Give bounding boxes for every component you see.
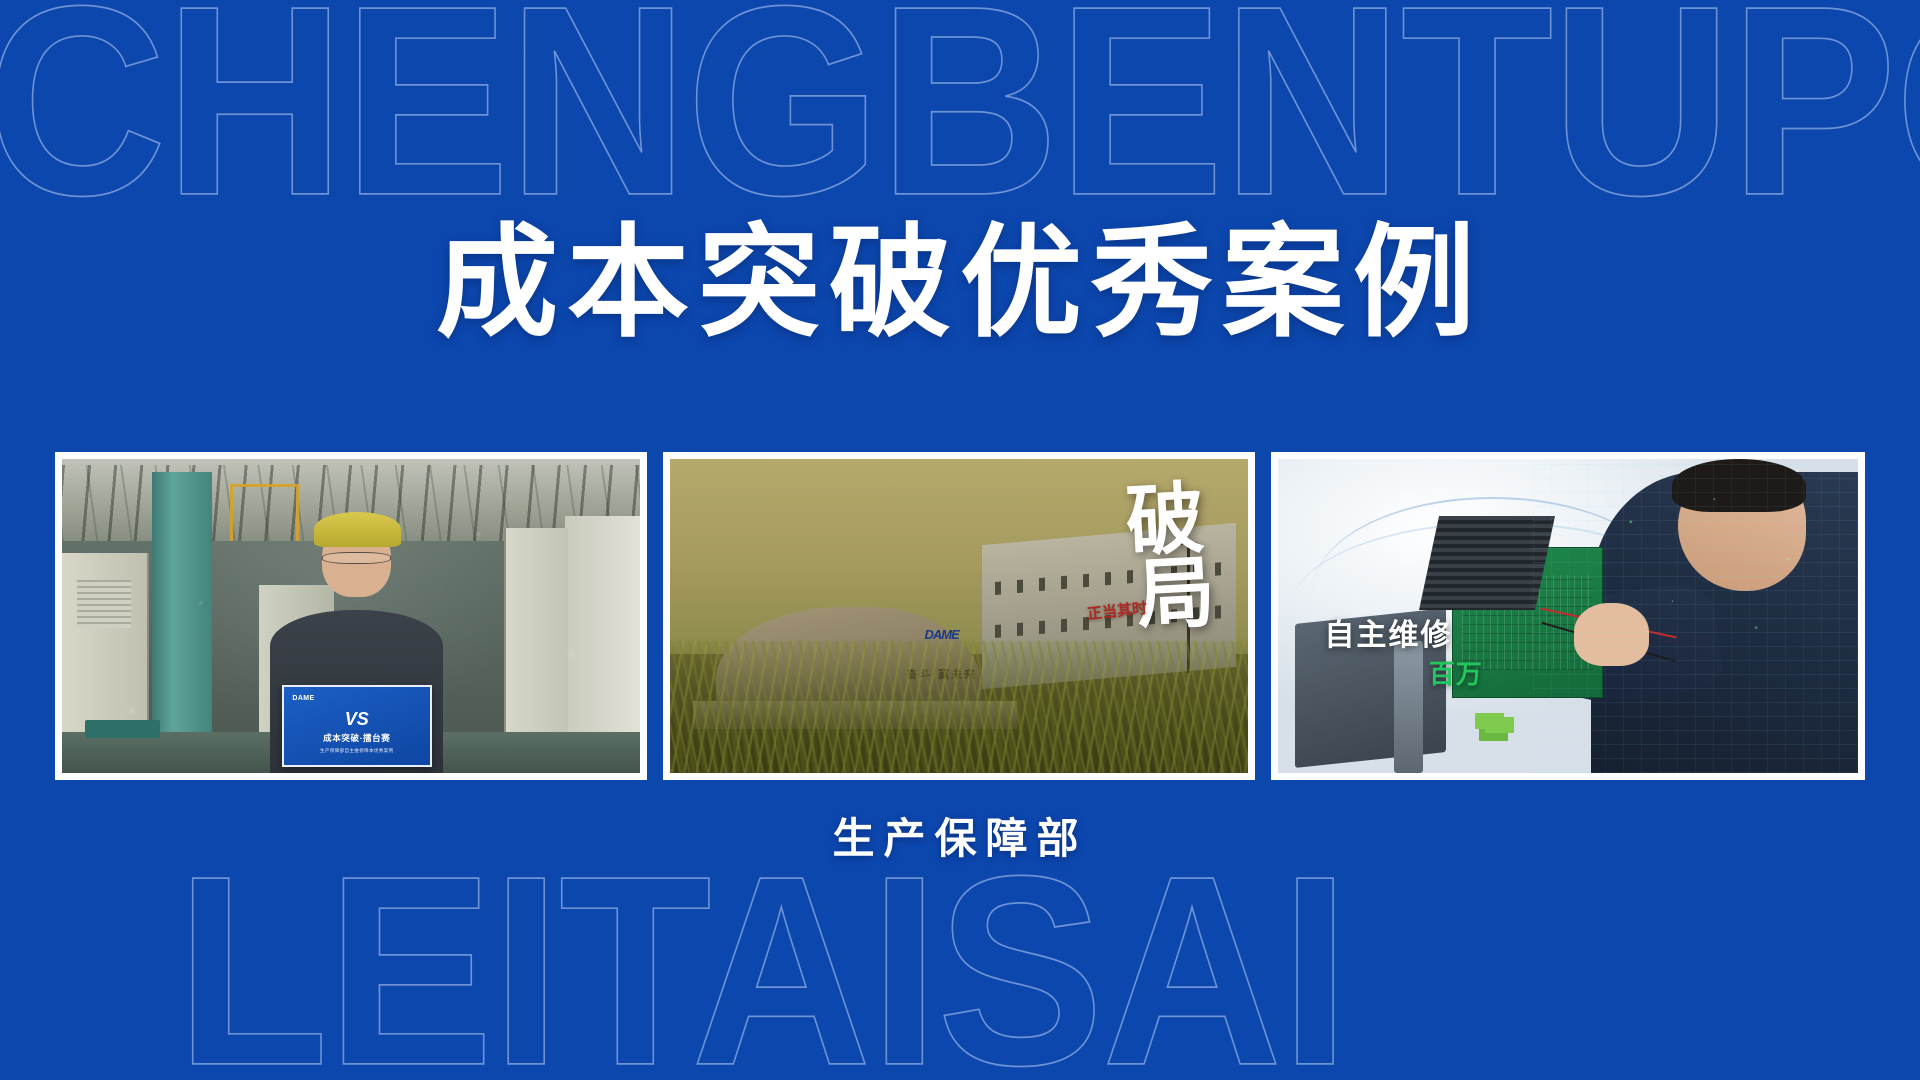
- green-components: [1475, 713, 1504, 729]
- bench: [85, 720, 160, 739]
- award-board-headline: 成本突破·擂台赛: [323, 732, 390, 744]
- photo-card-campus-monument: DAME 奋斗·赢未来 破 局 正当其时: [663, 452, 1255, 780]
- award-board-subline: 生产保障部自主维修降本优秀案例: [320, 748, 393, 754]
- worker-cap: [314, 512, 401, 547]
- wheat-foreground: [670, 698, 1248, 773]
- watermark-bottom-text: LEITAISAI: [176, 836, 1348, 1080]
- repair-caption: 自主维修: [1324, 610, 1452, 654]
- safety-rail: [230, 484, 299, 541]
- watermark-top-text: CHENGBENTUPO: [0, 0, 1920, 236]
- multimeter-probe: [1394, 641, 1423, 773]
- award-board-logo: DAME: [292, 695, 314, 702]
- support-column: [152, 472, 213, 773]
- repair-badge: 百万: [1429, 654, 1483, 691]
- photo-technician-repair: 百万 自主维修: [1278, 459, 1858, 773]
- photo-strip: DAME VS 成本突破·擂台赛 生产保障部自主维修降本优秀案例 DAME 奋斗…: [55, 452, 1865, 780]
- award-board-vs-mark: VS: [345, 709, 369, 730]
- calligraphy-char-2: 局: [1135, 556, 1217, 634]
- worker-glasses: [322, 552, 391, 565]
- photo-worker-award: DAME VS 成本突破·擂台赛 生产保障部自主维修降本优秀案例: [62, 459, 640, 773]
- monument-logo: DAME: [925, 627, 959, 642]
- award-board: DAME VS 成本突破·擂台赛 生产保障部自主维修降本优秀案例: [282, 685, 432, 767]
- heatsink: [1419, 516, 1555, 610]
- photo-card-worker-award: DAME VS 成本突破·擂台赛 生产保障部自主维修降本优秀案例: [55, 452, 647, 780]
- page-title: 成本突破优秀案例: [0, 222, 1920, 344]
- hud-node-dots: [1603, 484, 1835, 672]
- photo-campus-monument: DAME 奋斗·赢未来 破 局 正当其时: [670, 459, 1248, 773]
- photo-card-technician-repair: 百万 自主维修: [1271, 452, 1865, 780]
